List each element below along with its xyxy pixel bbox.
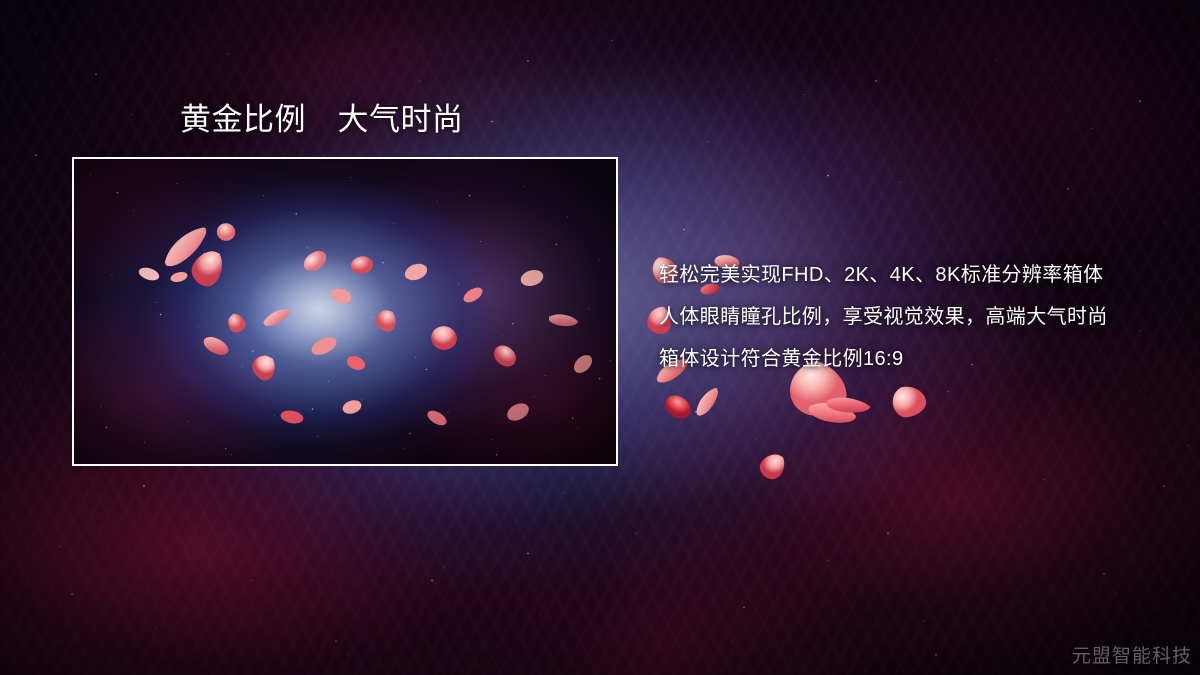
body-line: 轻松完美实现FHD、2K、4K、8K标准分辨率箱体 <box>659 254 1189 296</box>
petal-icon <box>883 377 934 425</box>
slide-canvas: 黄金比例 大气时尚 轻松完美实现FHD、2K、4K、8K标准分辨率箱体 人体眼睛… <box>0 0 1200 675</box>
petal-icon <box>752 446 794 488</box>
body-copy-block: 轻松完美实现FHD、2K、4K、8K标准分辨率箱体 人体眼睛瞳孔比例，享受视觉效… <box>659 254 1189 380</box>
page-title: 黄金比例 大气时尚 <box>180 100 464 140</box>
watermark: 元盟智能科技 <box>1072 645 1192 669</box>
preview-frame[interactable] <box>72 157 618 466</box>
petal-icon <box>822 387 875 424</box>
petal-icon <box>802 390 861 438</box>
body-line: 人体眼睛瞳孔比例，享受视觉效果，高端大气时尚 <box>659 296 1189 338</box>
body-line: 箱体设计符合黄金比例16:9 <box>659 338 1189 380</box>
preview-vignette <box>74 159 616 464</box>
petal-icon <box>688 383 728 421</box>
petal-icon <box>659 389 697 426</box>
